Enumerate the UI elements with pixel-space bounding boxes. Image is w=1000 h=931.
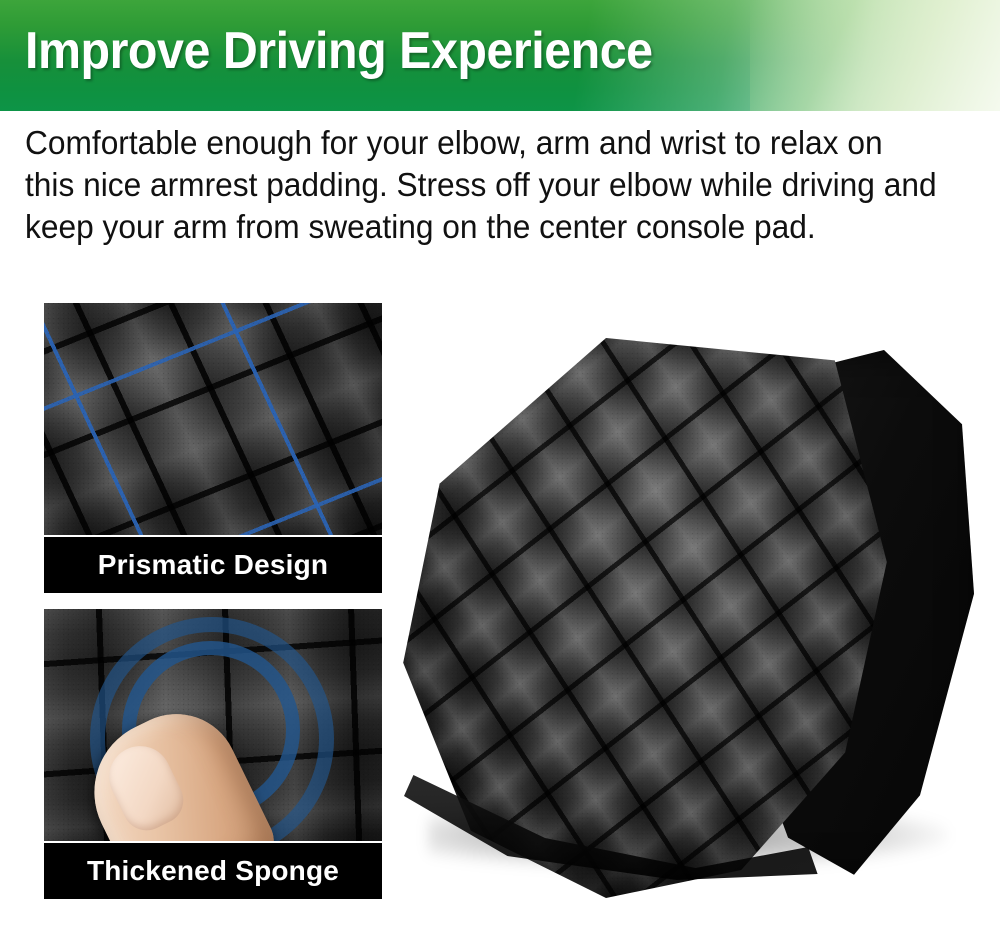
prismatic-design-photo <box>44 303 382 535</box>
feature-label-prismatic-design: Prismatic Design <box>44 535 382 593</box>
description-text: Comfortable enough for your elbow, arm a… <box>25 122 937 248</box>
page-title: Improve Driving Experience <box>25 20 653 82</box>
leather-grain-overlay <box>44 303 382 535</box>
product-image <box>398 330 1000 915</box>
feature-card-thickened-sponge: Thickened Sponge <box>44 609 382 899</box>
fingernail <box>99 736 192 839</box>
feature-card-prismatic-design: Prismatic Design <box>44 303 382 593</box>
feature-thumbnail-column: Prismatic Design Thickened Sponge <box>44 303 382 915</box>
feature-label-thickened-sponge: Thickened Sponge <box>44 841 382 899</box>
header-banner: Improve Driving Experience <box>0 0 1000 111</box>
thickened-sponge-photo <box>44 609 382 841</box>
